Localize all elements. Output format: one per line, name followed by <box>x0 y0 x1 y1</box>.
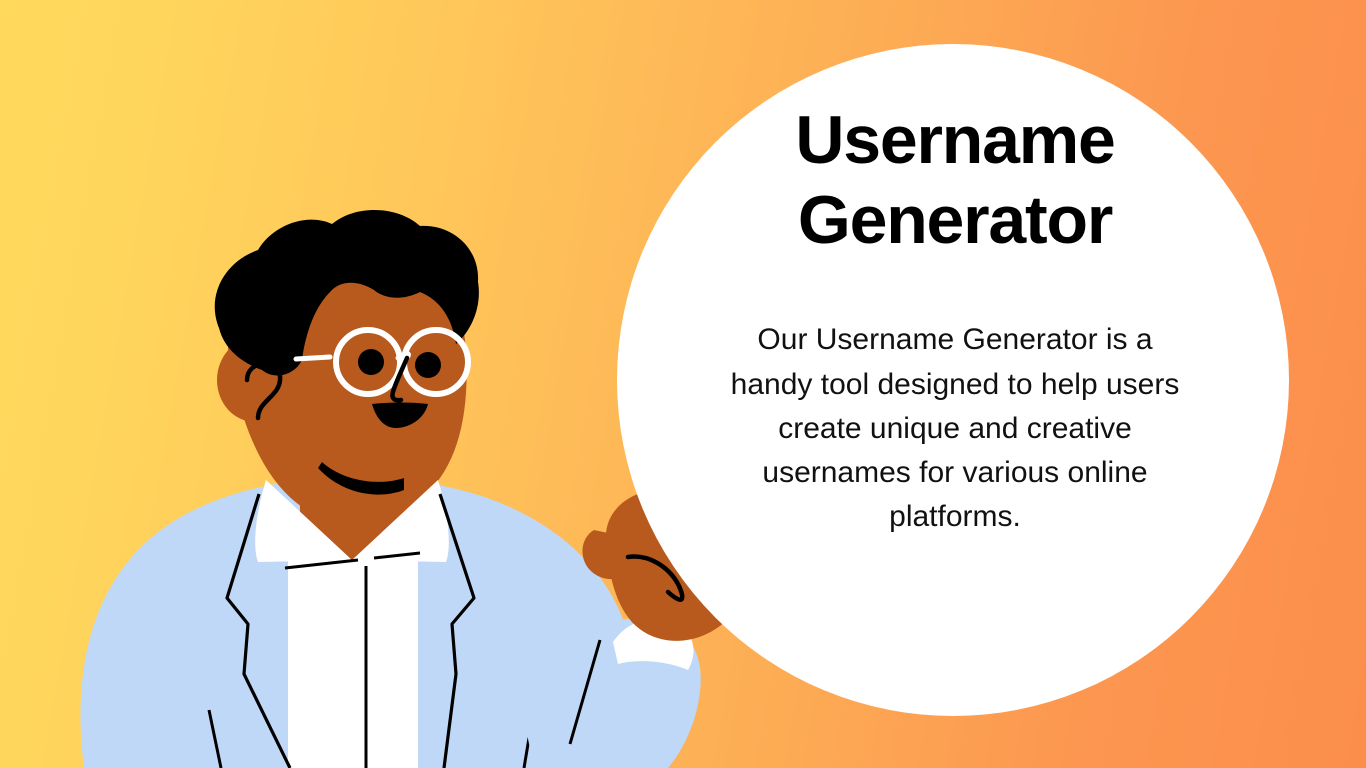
page-description: Our Username Generator is a handy tool d… <box>720 318 1190 538</box>
page-title: Username Generator <box>660 100 1250 260</box>
text-block: Username Generator Our Username Generato… <box>660 100 1250 539</box>
slide-canvas: Username Generator Our Username Generato… <box>0 0 1366 768</box>
